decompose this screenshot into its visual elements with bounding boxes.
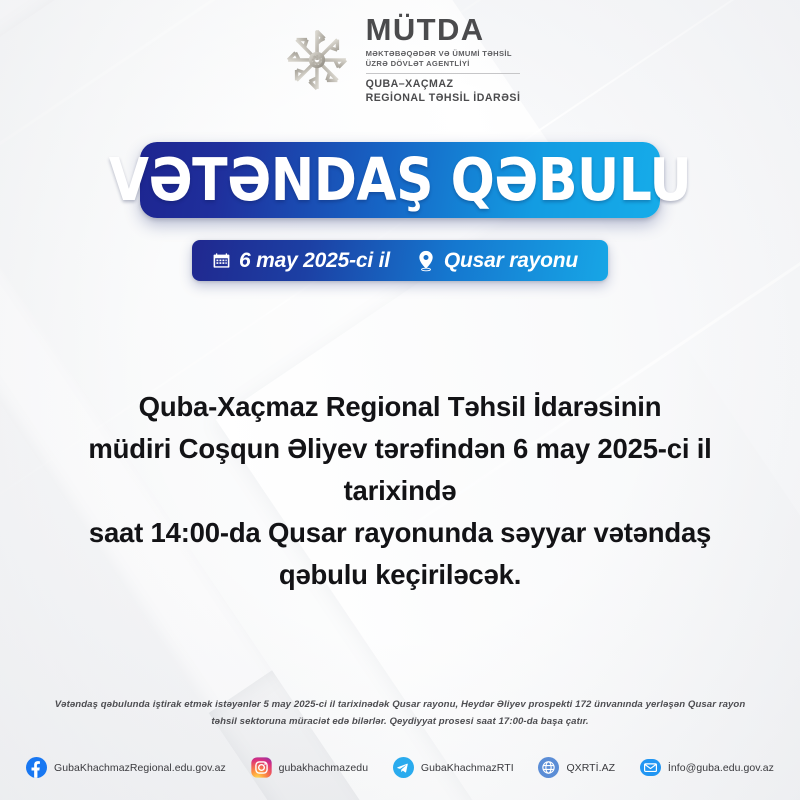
instagram-icon xyxy=(251,757,272,778)
calendar-icon xyxy=(212,251,231,270)
location-pin-icon xyxy=(416,250,436,272)
fine-print: Vətəndaş qəbulunda iştirak etmək istəyən… xyxy=(28,697,772,731)
social-label-website: QXRTİ.AZ xyxy=(566,762,615,774)
social-item-instagram[interactable]: gubakhachmazedu xyxy=(251,757,368,778)
facebook-icon xyxy=(26,757,47,778)
logo-subtitle-line2: üzrə Dövlət Agentliyi xyxy=(366,59,521,69)
fine-print-line-2: təhsil sektoruna müraciət edə bilərlər. … xyxy=(28,714,772,731)
announcement-line-1: Quba-Xaçmaz Regional Təhsil İdarəsinin xyxy=(60,386,740,428)
logo-organization: QUBA–XAÇMAZ REGİONAL TƏHSİL İDARƏSİ xyxy=(366,78,521,106)
organization-logo: MÜTDA Məktəbəqədər və ümumi təhsil üzrə … xyxy=(0,14,800,105)
announcement-line-3: saat 14:00-da Qusar rayonunda səyyar vət… xyxy=(60,512,740,554)
telegram-icon xyxy=(393,757,414,778)
logo-subtitle-line1: Məktəbəqədər və ümumi təhsil xyxy=(366,49,521,59)
event-info-bar: 6 may 2025-ci il Qusar rayonu xyxy=(192,240,608,281)
social-item-email[interactable]: İnfo@guba.edu.gov.az xyxy=(640,757,774,778)
globe-icon xyxy=(538,757,559,778)
social-footer: GubaKhachmazRegional.edu.gov.az gubakhac… xyxy=(26,757,774,778)
social-label-instagram: gubakhachmazedu xyxy=(279,762,368,774)
logo-text-block: MÜTDA Məktəbəqədər və ümumi təhsil üzrə … xyxy=(366,14,521,105)
social-item-telegram[interactable]: GubaKhachmazRTI xyxy=(393,757,514,778)
social-item-facebook[interactable]: GubaKhachmazRegional.edu.gov.az xyxy=(26,757,226,778)
title-banner: VƏTƏNDAŞ QƏBULU xyxy=(140,142,660,218)
social-item-website[interactable]: QXRTİ.AZ xyxy=(538,757,615,778)
event-date: 6 may 2025-ci il xyxy=(212,249,390,273)
event-date-label: 6 may 2025-ci il xyxy=(239,249,390,273)
announcement-line-4: qəbulu keçiriləcək. xyxy=(60,554,740,596)
event-location: Qusar rayonu xyxy=(416,249,578,273)
logo-divider xyxy=(366,73,521,74)
fine-print-line-1: Vətəndaş qəbulunda iştirak etmək istəyən… xyxy=(28,697,772,714)
logo-org-line2: REGİONAL TƏHSİL İDARƏSİ xyxy=(366,92,521,106)
announcement-body: Quba-Xaçmaz Regional Təhsil İdarəsinin m… xyxy=(60,386,740,596)
snowflake-emblem-icon xyxy=(280,23,354,97)
banner-title: VƏTƏNDAŞ QƏBULU xyxy=(109,146,691,214)
email-icon xyxy=(640,757,661,778)
social-label-email: İnfo@guba.edu.gov.az xyxy=(668,762,774,774)
logo-subtitle: Məktəbəqədər və ümumi təhsil üzrə Dövlət… xyxy=(366,49,521,70)
social-label-telegram: GubaKhachmazRTI xyxy=(421,762,514,774)
announcement-line-2: müdiri Coşqun Əliyev tərəfindən 6 may 20… xyxy=(60,428,740,512)
event-location-label: Qusar rayonu xyxy=(444,249,578,273)
social-label-facebook: GubaKhachmazRegional.edu.gov.az xyxy=(54,762,226,774)
logo-org-line1: QUBA–XAÇMAZ xyxy=(366,78,521,92)
logo-acronym: MÜTDA xyxy=(366,14,521,45)
